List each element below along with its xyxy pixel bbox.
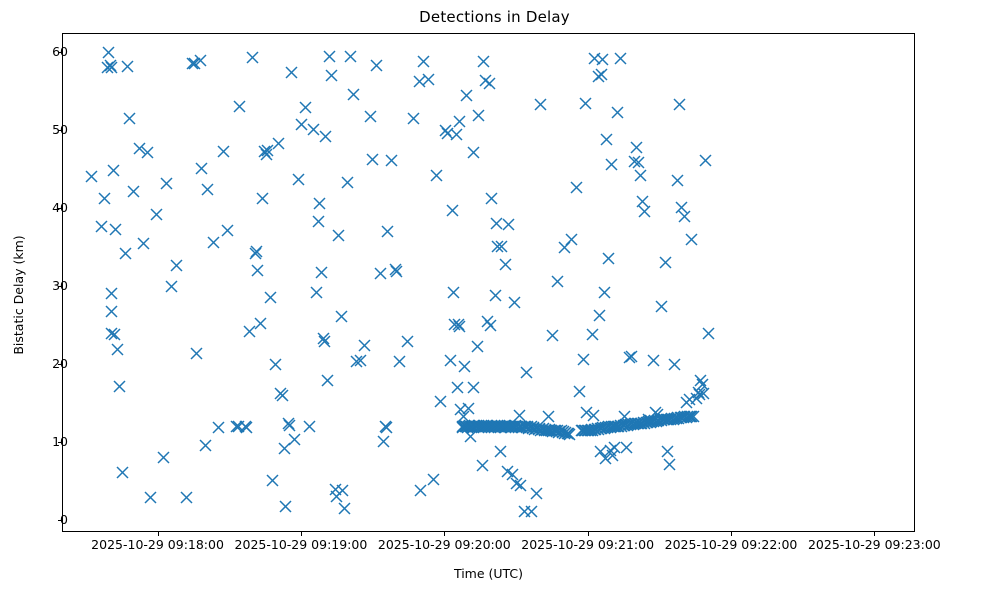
scatter-point: [360, 361, 361, 362]
scatter-point: [163, 457, 164, 458]
scatter-point: [645, 212, 646, 213]
scatter-point: [283, 395, 284, 396]
scatter-point: [335, 489, 336, 490]
chart-title: Detections in Delay: [0, 8, 989, 26]
scatter-point: [452, 210, 453, 211]
scatter-point: [706, 160, 707, 161]
scatter-point: [662, 306, 663, 307]
scatter-point: [376, 66, 377, 67]
scatter-point: [202, 168, 203, 169]
scatter-point: [263, 199, 264, 200]
scatter-point: [636, 148, 637, 149]
scatter-point: [285, 506, 286, 507]
scatter-point: [240, 107, 241, 108]
x-tick-mark: [301, 532, 302, 536]
x-tick-mark: [444, 532, 445, 536]
scatter-point: [298, 179, 299, 180]
scatter-point: [603, 60, 604, 61]
scatter-point: [531, 512, 532, 513]
scatter-point: [316, 292, 317, 293]
scatter-point: [668, 452, 669, 453]
scatter-point: [565, 248, 566, 249]
scatter-point: [341, 316, 342, 317]
x-tick-mark: [731, 532, 732, 536]
scatter-point: [478, 347, 479, 348]
scatter-point: [370, 117, 371, 118]
scatter-point: [670, 464, 671, 465]
scatter-point: [113, 170, 114, 171]
scatter-point: [329, 57, 330, 58]
scatter-point: [320, 203, 321, 204]
scatter-point: [497, 223, 498, 224]
y-tick-label: 0: [0, 512, 68, 527]
scatter-point: [479, 115, 480, 116]
scatter-point: [284, 448, 285, 449]
scatter-point: [602, 75, 603, 76]
scatter-point: [611, 165, 612, 166]
scatter-point: [321, 273, 322, 274]
matplotlib-figure: Detections in Delay Bistatic Delay (km) …: [0, 0, 989, 590]
y-tick-label: 40: [0, 200, 68, 215]
x-tick-mark: [874, 532, 875, 536]
scatter-point: [272, 481, 273, 482]
scatter-point: [450, 361, 451, 362]
scatter-point: [577, 188, 578, 189]
x-tick-label: 2025-10-29 09:23:00: [774, 537, 974, 552]
scatter-point: [461, 409, 462, 410]
scatter-point: [381, 273, 382, 274]
scatter-point: [130, 119, 131, 120]
scatter-point: [639, 163, 640, 164]
scatter-point: [332, 75, 333, 76]
scatter-point: [112, 68, 113, 69]
scatter-point: [258, 270, 259, 271]
scatter-point: [247, 428, 248, 429]
scatter-point: [651, 421, 652, 422]
scatter-point: [314, 130, 315, 131]
scatter-point: [694, 417, 695, 418]
scatter-point: [441, 401, 442, 402]
scatter-point: [495, 296, 496, 297]
scatter-point: [448, 134, 449, 135]
scatter-point: [491, 326, 492, 327]
y-axis-label: Bistatic Delay (km): [11, 0, 31, 590]
scatter-point: [387, 428, 388, 429]
scatter-point: [112, 312, 113, 313]
scatter-point: [593, 415, 594, 416]
scatter-point: [689, 400, 690, 401]
scatter-point: [490, 83, 491, 84]
scatter-point: [613, 456, 614, 457]
scatter-point: [112, 294, 113, 295]
scatter-point: [123, 473, 124, 474]
scatter-point: [474, 387, 475, 388]
scatter-point: [383, 442, 384, 443]
scatter-point: [214, 243, 215, 244]
plot-area[interactable]: [62, 33, 915, 532]
scatter-point: [119, 386, 120, 387]
scatter-point: [114, 334, 115, 335]
scatter-point: [392, 160, 393, 161]
scatter-point: [627, 447, 628, 448]
scatter-point: [347, 182, 348, 183]
scatter-point: [470, 436, 471, 437]
scatter-point: [609, 259, 610, 260]
scatter-point: [325, 341, 326, 342]
y-tick-label: 60: [0, 44, 68, 59]
scatter-point: [548, 416, 549, 417]
scatter-point: [524, 512, 525, 513]
scatter-point: [156, 214, 157, 215]
scatter-point: [271, 298, 272, 299]
scatter-point: [604, 293, 605, 294]
scatter-point: [208, 190, 209, 191]
x-axis-label: Time (UTC): [62, 566, 915, 581]
scatter-point: [484, 61, 485, 62]
scatter-point: [306, 107, 307, 108]
scatter-point: [295, 439, 296, 440]
scatter-point: [592, 334, 593, 335]
scatter-point: [433, 480, 434, 481]
scatter-point: [276, 365, 277, 366]
scatter-point: [176, 266, 177, 267]
scatter-point: [691, 239, 692, 240]
scatter-point: [464, 367, 465, 368]
scatter-point: [570, 435, 571, 436]
scatter-point: [675, 365, 676, 366]
y-axis-label-wrapper: Bistatic Delay (km): [4, 0, 24, 590]
scatter-point: [454, 293, 455, 294]
scatter-point: [101, 227, 102, 228]
y-tick-label: 10: [0, 434, 68, 449]
scatter-point: [407, 342, 408, 343]
scatter-point: [703, 393, 704, 394]
scatter-point: [500, 451, 501, 452]
scatter-point: [585, 103, 586, 104]
scatter-point: [291, 72, 292, 73]
scatter-point: [172, 287, 173, 288]
scatter-point: [457, 388, 458, 389]
scatter-point: [353, 95, 354, 96]
scatter-point: [253, 57, 254, 58]
scatter-point: [468, 408, 469, 409]
scatter-point: [364, 346, 365, 347]
scatter-point: [396, 271, 397, 272]
scatter-point: [665, 262, 666, 263]
scatter-point: [679, 104, 680, 105]
scatter-point: [125, 254, 126, 255]
scatter-point: [388, 231, 389, 232]
scatter-point: [343, 490, 344, 491]
scatter-point: [558, 282, 559, 283]
scatter-point: [601, 451, 602, 452]
scatter-point: [492, 199, 493, 200]
scatter-point: [553, 336, 554, 337]
scatter-point: [267, 150, 268, 151]
scatter-point: [515, 303, 516, 304]
scatter-point: [260, 323, 261, 324]
scatter-point: [429, 79, 430, 80]
scatter-point: [437, 175, 438, 176]
scatter-point: [133, 192, 134, 193]
scatter-point: [586, 412, 587, 413]
y-tick-label: 20: [0, 356, 68, 371]
scatter-point: [278, 144, 279, 145]
scatter-point: [677, 181, 678, 182]
scatter-point: [460, 121, 461, 122]
scatter-point: [599, 315, 600, 316]
scatter-point: [218, 428, 219, 429]
scatter-point: [605, 459, 606, 460]
scatter-point: [205, 446, 206, 447]
scatter-point: [584, 360, 585, 361]
scatter-point: [617, 113, 618, 114]
scatter-point: [420, 490, 421, 491]
scatter-point: [505, 265, 506, 266]
scatter-point: [467, 96, 468, 97]
scatter-point: [463, 416, 464, 417]
scatter-point: [682, 208, 683, 209]
scatter-point: [615, 447, 616, 448]
scatter-point: [400, 361, 401, 362]
scatter-point: [108, 53, 109, 54]
scatter-point: [326, 137, 327, 138]
scatter-point: [186, 498, 187, 499]
scatter-point: [249, 332, 250, 333]
scatter-point: [197, 354, 198, 355]
scatter-point: [696, 399, 697, 400]
scatter-point: [456, 135, 457, 136]
scatter-point: [509, 224, 510, 225]
scatter-point: [351, 57, 352, 58]
scatter-point: [653, 361, 654, 362]
scatter-point: [309, 426, 310, 427]
scatter-point: [290, 425, 291, 426]
scatter-point: [419, 82, 420, 83]
scatter-point: [541, 104, 542, 105]
scatter-point: [460, 326, 461, 327]
scatter-point: [116, 230, 117, 231]
scatter-point: [625, 417, 626, 418]
scatter-point: [640, 175, 641, 176]
scatter-point: [579, 392, 580, 393]
scatter-point: [455, 324, 456, 325]
scatter-point: [148, 153, 149, 154]
scatter-point: [128, 67, 129, 68]
x-tick-mark: [588, 532, 589, 536]
scatter-point: [150, 498, 151, 499]
y-tick-label: 30: [0, 278, 68, 293]
scatter-point: [536, 493, 537, 494]
scatter-point: [339, 235, 340, 236]
scatter-point: [595, 59, 596, 60]
scatter-point: [632, 357, 633, 358]
scatter-point: [527, 372, 528, 373]
scatter-point: [105, 199, 106, 200]
scatter-point: [228, 230, 229, 231]
scatter-point: [239, 427, 240, 428]
scatter-point: [143, 244, 144, 245]
scatter-point: [474, 153, 475, 154]
scatter-point: [512, 475, 513, 476]
scatter-point: [684, 216, 685, 217]
scatter-point: [139, 149, 140, 150]
scatter-point: [223, 152, 224, 153]
scatter-point: [92, 177, 93, 178]
scatter-point: [702, 384, 703, 385]
y-tick-label: 50: [0, 122, 68, 137]
scatter-point: [519, 415, 520, 416]
scatter-point: [372, 160, 373, 161]
scatter-point: [345, 508, 346, 509]
scatter-point: [413, 119, 414, 120]
scatter-point: [257, 252, 258, 253]
scatter-point: [302, 124, 303, 125]
scatter-point: [327, 380, 328, 381]
scatter-point: [200, 61, 201, 62]
scatter-point: [482, 465, 483, 466]
scatter-point: [642, 202, 643, 203]
scatter-point: [501, 247, 502, 248]
scatter-point: [607, 139, 608, 140]
x-tick-mark: [158, 532, 159, 536]
scatter-point: [118, 350, 119, 351]
scatter-point: [521, 485, 522, 486]
scatter-point: [167, 184, 168, 185]
scatter-point: [337, 496, 338, 497]
scatter-point: [658, 414, 659, 415]
scatter-point: [424, 61, 425, 62]
scatter-point: [708, 333, 709, 334]
scatter-point: [319, 221, 320, 222]
scatter-point: [621, 59, 622, 60]
scatter-point: [572, 240, 573, 241]
